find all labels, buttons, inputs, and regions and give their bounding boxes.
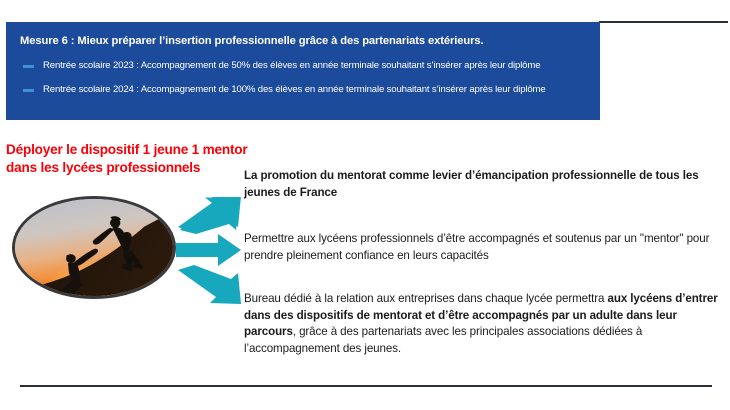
banner-bullet-label: Rentrée scolaire 2023 : Accompagnement d… <box>43 59 540 72</box>
banner-bullet-label: Rentrée scolaire 2024 : Accompagnement d… <box>43 83 546 96</box>
banner-bullet-item: Rentrée scolaire 2023 : Accompagnement d… <box>20 59 586 72</box>
bottom-divider-rule <box>20 385 712 387</box>
mentor-photo-illustration <box>15 199 173 296</box>
bureau-part1: Bureau dédié à la relation aux entrepris… <box>244 292 607 305</box>
arrow-up-right-icon <box>176 197 242 235</box>
top-divider-rule <box>599 21 728 23</box>
point-promotion-text: La promotion du mentorat comme levier d’… <box>244 168 728 201</box>
measure-banner: Mesure 6 : Mieux préparer l’insertion pr… <box>6 22 600 120</box>
measure-banner-title: Mesure 6 : Mieux préparer l’insertion pr… <box>20 34 586 48</box>
point-permettre-text: Permettre aux lycéens professionnels d’ê… <box>244 231 728 264</box>
mentor-photo <box>12 196 176 299</box>
arrow-down-right-icon <box>176 264 242 306</box>
dash-bullet-icon <box>23 89 34 92</box>
deploy-heading: Déployer le dispositif 1 jeune 1 mentor … <box>6 141 256 176</box>
dash-bullet-icon <box>23 65 34 68</box>
bureau-part2: , grâce à des partenariats avec les prin… <box>244 325 642 355</box>
banner-bullet-item: Rentrée scolaire 2024 : Accompagnement d… <box>20 83 586 96</box>
arrow-right-icon <box>176 233 242 267</box>
point-bureau-text: Bureau dédié à la relation aux entrepris… <box>244 291 728 357</box>
